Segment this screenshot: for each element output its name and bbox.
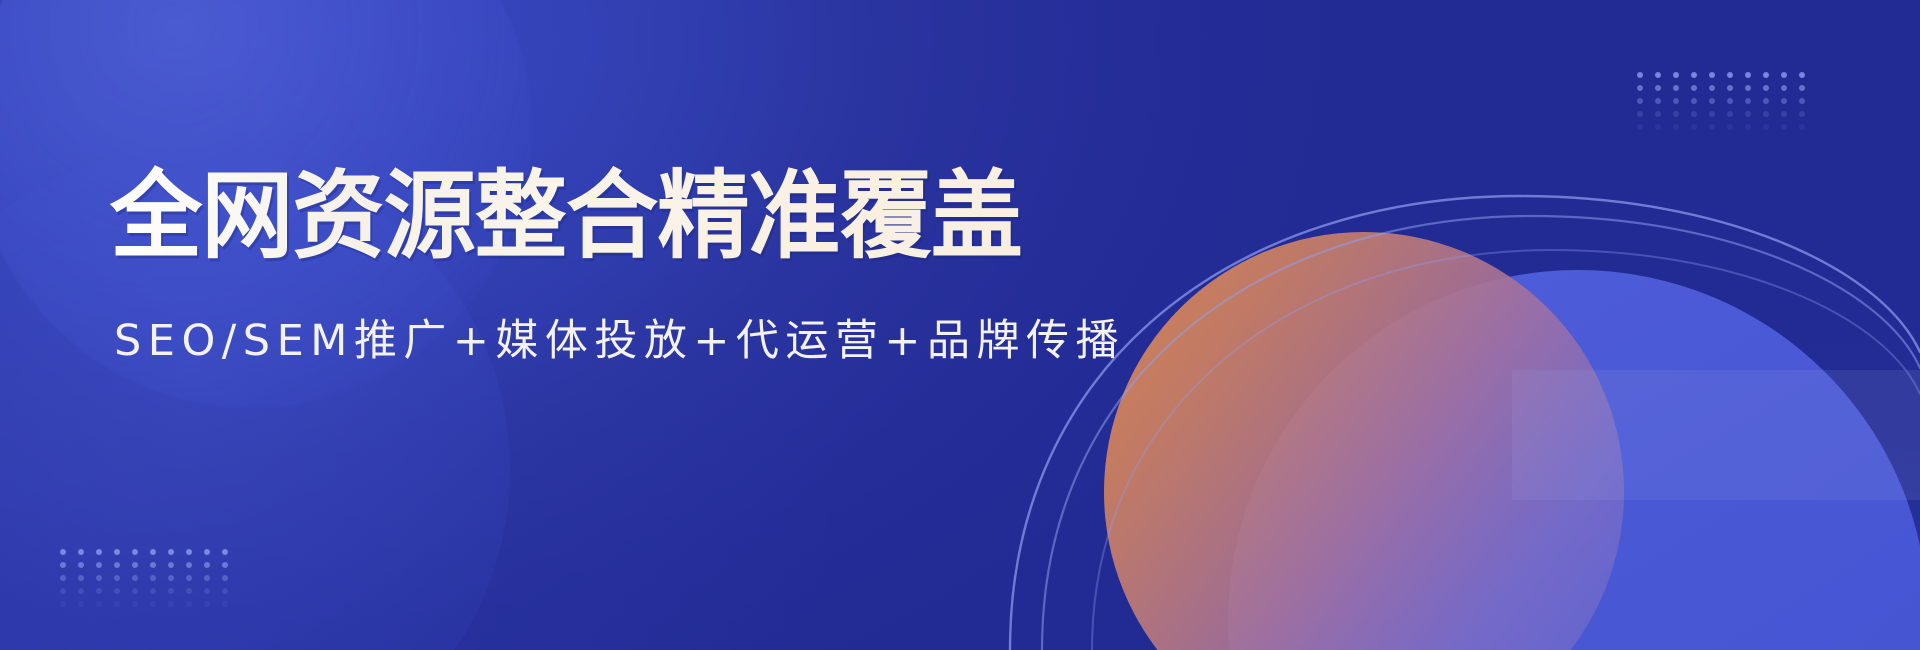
banner-subheadline: SEO/SEM推广+媒体投放+代运营+品牌传播 (114, 315, 1125, 367)
banner-content: 全网资源整合精准覆盖 SEO/SEM推广+媒体投放+代运营+品牌传播 (0, 0, 1920, 650)
banner-headline: 全网资源整合精准覆盖 (110, 164, 1022, 268)
marketing-hero-banner: 全网资源整合精准覆盖 SEO/SEM推广+媒体投放+代运营+品牌传播 (0, 0, 1920, 650)
